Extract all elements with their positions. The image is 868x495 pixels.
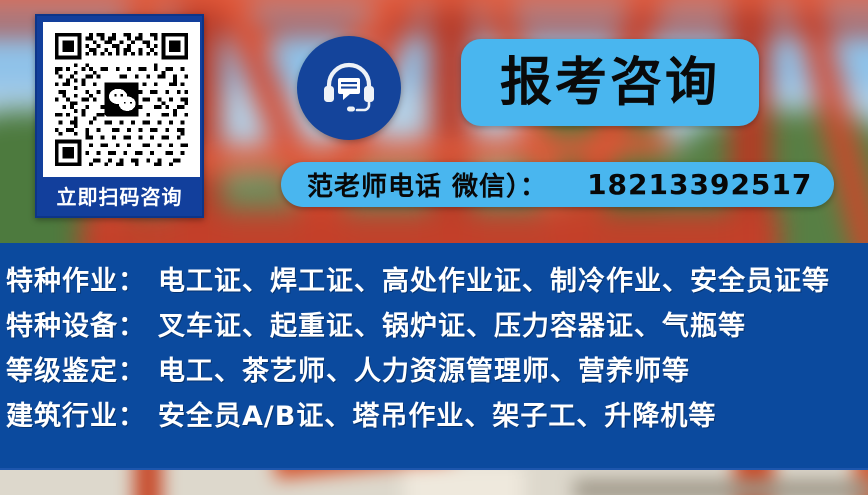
category-label: 建筑行业： xyxy=(6,394,158,433)
qr-code-matrix xyxy=(50,29,193,170)
phone-pill-label: 范老师电话 微信）： xyxy=(281,166,547,203)
headset-support-icon xyxy=(297,36,401,140)
category-label: 特种设备： xyxy=(6,304,158,343)
certificate-categories-panel: 特种作业： 电工证、焊工证、高处作业证、制冷作业、安全员证等 特种设备： 叉车证… xyxy=(0,243,868,470)
category-value: 安全员A/B证、塔吊作业、架子工、升降机等 xyxy=(158,394,716,433)
title-pill: 报考咨询 xyxy=(461,39,759,126)
headset-glyph xyxy=(319,58,379,118)
category-row: 特种设备： 叉车证、起重证、锅炉证、压力容器证、气瓶等 xyxy=(6,304,868,349)
category-row: 等级鉴定： 电工、茶艺师、人力资源管理师、营养师等 xyxy=(6,349,868,394)
category-row: 建筑行业： 安全员A/B证、塔吊作业、架子工、升降机等 xyxy=(6,394,868,439)
phone-number[interactable]: 18213392517 xyxy=(547,168,812,201)
category-label: 等级鉴定： xyxy=(6,349,158,388)
category-row-list: 特种作业： 电工证、焊工证、高处作业证、制冷作业、安全员证等 特种设备： 叉车证… xyxy=(0,243,868,439)
footer-blur-layer xyxy=(0,466,868,495)
promo-poster: 立即扫码咨询 报考咨询 范老师电话 微信）： 18213392517 特种作业：… xyxy=(0,0,868,495)
phone-pill[interactable]: 范老师电话 微信）： 18213392517 xyxy=(281,162,834,207)
footer-background-photo xyxy=(0,466,868,495)
category-row: 特种作业： 电工证、焊工证、高处作业证、制冷作业、安全员证等 xyxy=(6,259,868,304)
category-label: 特种作业： xyxy=(6,259,158,298)
qr-code-image[interactable] xyxy=(43,22,200,177)
title-pill-label: 报考咨询 xyxy=(500,57,720,109)
category-value: 电工、茶艺师、人力资源管理师、营养师等 xyxy=(158,349,690,388)
category-value: 电工证、焊工证、高处作业证、制冷作业、安全员证等 xyxy=(158,259,830,298)
qr-code-card[interactable]: 立即扫码咨询 xyxy=(35,14,204,218)
qr-caption: 立即扫码咨询 xyxy=(43,177,196,218)
category-value: 叉车证、起重证、锅炉证、压力容器证、气瓶等 xyxy=(158,304,746,343)
